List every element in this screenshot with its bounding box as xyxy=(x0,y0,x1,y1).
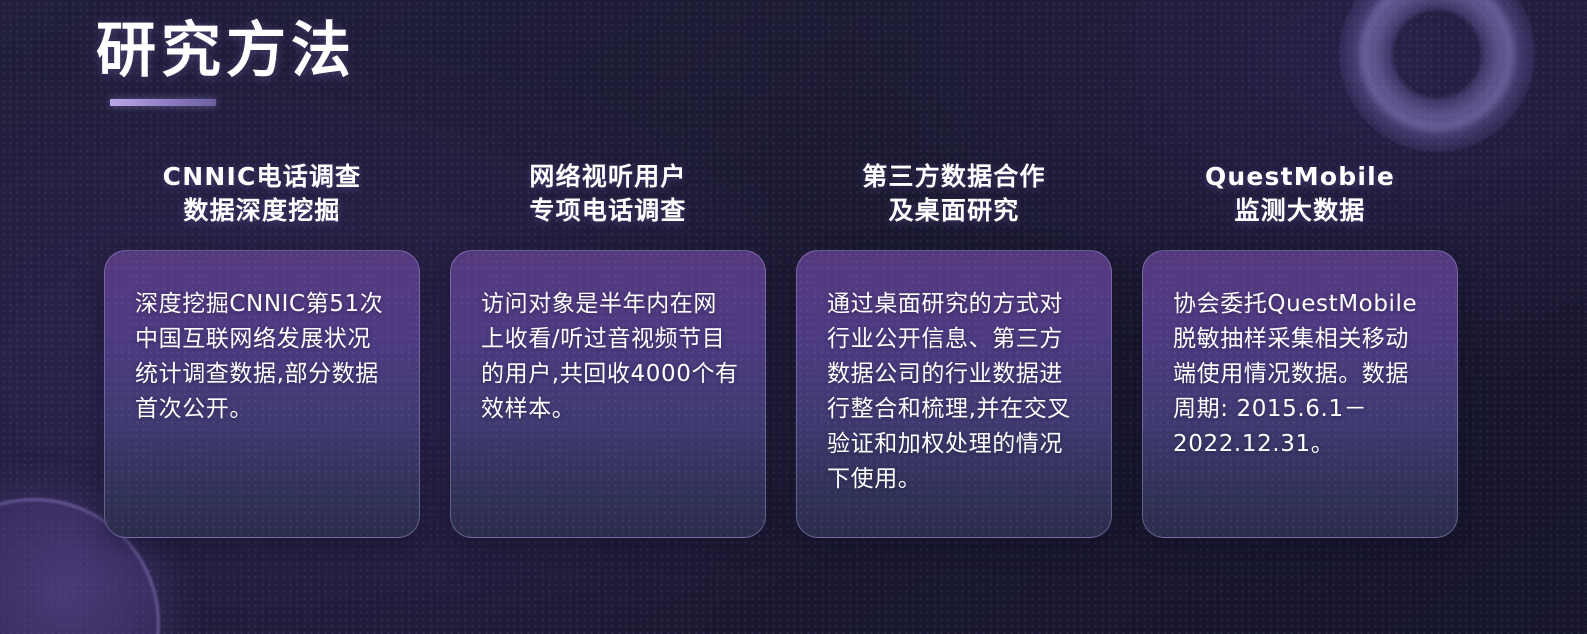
column-card: 深度挖掘CNNIC第51次中国互联网络发展状况统计调查数据,部分数据首次公开。 xyxy=(104,250,420,538)
column-heading: QuestMobile 监测大数据 xyxy=(1142,158,1458,250)
column-card-text: 深度挖掘CNNIC第51次中国互联网络发展状况统计调查数据,部分数据首次公开。 xyxy=(105,251,419,427)
ring-torus-decoration-icon xyxy=(1339,0,1535,152)
slide-root: 研究方法 CNNIC电话调查 数据深度挖掘 深度挖掘CNNIC第51次中国互联网… xyxy=(0,0,1587,634)
column-card-text: 通过桌面研究的方式对行业公开信息、第三方数据公司的行业数据进行整合和梳理,并在交… xyxy=(797,251,1111,497)
column-card: 访问对象是半年内在网上收看/听过音视频节目的用户,共回收4000个有效样本。 xyxy=(450,250,766,538)
slide-header: 研究方法 xyxy=(96,18,356,106)
methodology-columns: CNNIC电话调查 数据深度挖掘 深度挖掘CNNIC第51次中国互联网络发展状况… xyxy=(104,158,1484,538)
column-heading: CNNIC电话调查 数据深度挖掘 xyxy=(104,158,420,250)
column-card-text: 协会委托QuestMobile脱敏抽样采集相关移动端使用情况数据。数据周期: 2… xyxy=(1143,251,1457,462)
page-title: 研究方法 xyxy=(96,18,356,85)
column-card: 协会委托QuestMobile脱敏抽样采集相关移动端使用情况数据。数据周期: 2… xyxy=(1142,250,1458,538)
title-underline-accent xyxy=(110,99,216,106)
column-card: 通过桌面研究的方式对行业公开信息、第三方数据公司的行业数据进行整合和梳理,并在交… xyxy=(796,250,1112,538)
column-heading: 第三方数据合作 及桌面研究 xyxy=(796,158,1112,250)
column-questmobile-big-data: QuestMobile 监测大数据 协会委托QuestMobile脱敏抽样采集相… xyxy=(1142,158,1458,538)
column-heading: 网络视听用户 专项电话调查 xyxy=(450,158,766,250)
column-card-text: 访问对象是半年内在网上收看/听过音视频节目的用户,共回收4000个有效样本。 xyxy=(451,251,765,427)
column-third-party-desk-research: 第三方数据合作 及桌面研究 通过桌面研究的方式对行业公开信息、第三方数据公司的行… xyxy=(796,158,1112,538)
column-cnnic-phone-survey: CNNIC电话调查 数据深度挖掘 深度挖掘CNNIC第51次中国互联网络发展状况… xyxy=(104,158,420,538)
column-online-av-user-survey: 网络视听用户 专项电话调查 访问对象是半年内在网上收看/听过音视频节目的用户,共… xyxy=(450,158,766,538)
